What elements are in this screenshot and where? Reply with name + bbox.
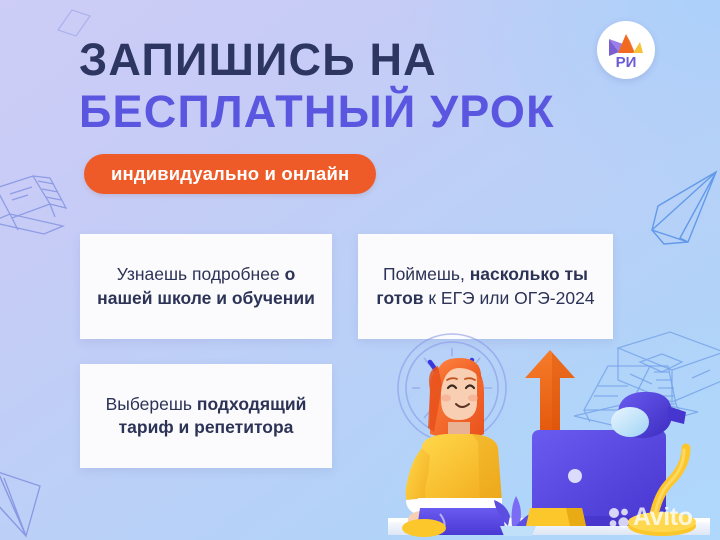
avito-dots-icon — [608, 507, 630, 529]
benefit-card: Выберешь подходящий тариф и репетитора — [80, 364, 332, 468]
keyboard — [526, 508, 586, 526]
girl-character — [406, 358, 506, 535]
benefit-card: Поймешь, насколько ты готов к ЕГЭ или ОГ… — [358, 234, 613, 339]
watermark-text: Avito — [633, 505, 693, 530]
promo-banner: РИ ЗАПИШИСЬ НА БЕСПЛАТНЫЙ УРОК индивидуа… — [0, 0, 720, 540]
brand-logo[interactable]: РИ — [597, 21, 655, 79]
card-regular-prefix: Выберешь — [106, 394, 192, 414]
up-arrow-icon — [525, 350, 575, 430]
benefit-card: Узнаешь подробнее о нашей школе и обучен… — [80, 234, 332, 339]
card-regular-prefix: Узнаешь подробнее — [117, 264, 280, 284]
paper-plane-outline-icon — [628, 168, 720, 268]
card-regular-suffix: к ЕГЭ или ОГЭ-2024 — [424, 288, 595, 308]
headline-line-2: БЕСПЛАТНЫЙ УРОК — [79, 90, 555, 135]
card-regular-prefix: Поймешь, — [383, 264, 470, 284]
mouse — [402, 519, 446, 537]
avito-watermark: Avito — [608, 505, 693, 530]
badge-label: индивидуально и онлайн — [111, 163, 349, 185]
headline-line-1: ЗАПИШИСЬ НА — [79, 38, 555, 83]
logo-text: РИ — [616, 54, 637, 70]
logo-crown-icon: РИ — [605, 30, 647, 70]
status-badge: индивидуально и онлайн — [84, 154, 376, 194]
page-title: ЗАПИШИСЬ НА БЕСПЛАТНЫЙ УРОК — [79, 38, 555, 134]
paper-plane-outline-icon — [0, 458, 94, 540]
